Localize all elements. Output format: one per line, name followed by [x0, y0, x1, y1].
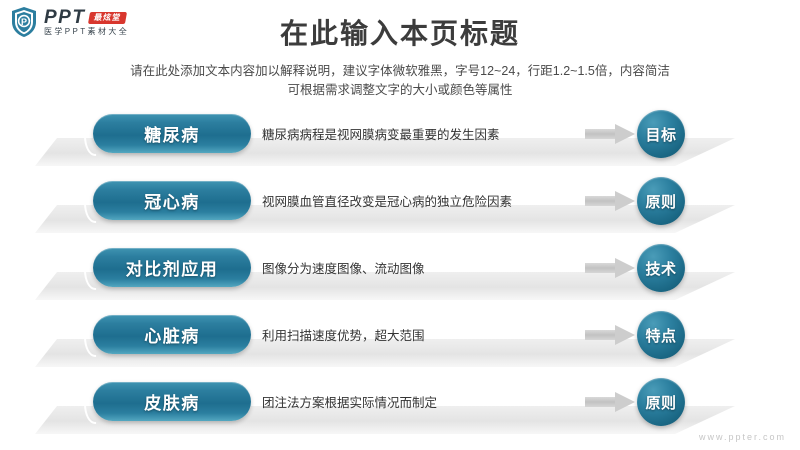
- process-list: 糖尿病 糖尿病病程是视网膜病变最重要的发生因素 目标 冠心病 视网膜血管直径改变…: [0, 108, 800, 443]
- subtitle-line-2: 可根据需求调整文字的大小或颜色等属性: [0, 81, 800, 100]
- list-item[interactable]: 冠心病 视网膜血管直径改变是冠心病的独立危险因素 原则: [0, 175, 800, 242]
- row-badge-label: 特点: [645, 325, 676, 346]
- row-pill-label: 心脏病: [144, 322, 200, 347]
- row-description: 糖尿病病程是视网膜病变最重要的发生因素: [262, 124, 500, 143]
- arrow-right-icon: [585, 392, 635, 412]
- row-pill[interactable]: 对比剂应用: [93, 248, 251, 287]
- list-item[interactable]: 心脏病 利用扫描速度优势，超大范围 特点: [0, 309, 800, 376]
- row-description: 图像分为速度图像、流动图像: [262, 258, 425, 277]
- footer-watermark: www.ppter.com: [699, 432, 786, 442]
- arrow-right-icon: [585, 124, 635, 144]
- subtitle-line-1: 请在此处添加文本内容加以解释说明，建议字体微软雅黑，字号12~24，行距1.2~…: [0, 62, 800, 81]
- row-badge-label: 目标: [645, 124, 676, 145]
- row-pill[interactable]: 心脏病: [93, 315, 251, 354]
- row-badge-label: 技术: [645, 258, 676, 279]
- row-description: 利用扫描速度优势，超大范围: [262, 325, 425, 344]
- arrow-right-icon: [585, 258, 635, 278]
- row-description: 团注法方案根据实际情况而制定: [262, 392, 437, 411]
- row-pill[interactable]: 皮肤病: [93, 382, 251, 421]
- row-badge-circle[interactable]: 目标: [637, 110, 685, 158]
- page-title: 在此输入本页标题: [0, 12, 800, 52]
- row-badge-label: 原则: [645, 191, 676, 212]
- row-pill[interactable]: 冠心病: [93, 181, 251, 220]
- page-subtitle: 请在此处添加文本内容加以解释说明，建议字体微软雅黑，字号12~24，行距1.2~…: [0, 62, 800, 101]
- row-pill-label: 冠心病: [144, 188, 200, 213]
- row-badge-circle[interactable]: 技术: [637, 244, 685, 292]
- row-pill-label: 对比剂应用: [126, 255, 219, 280]
- arrow-right-icon: [585, 325, 635, 345]
- row-pill[interactable]: 糖尿病: [93, 114, 251, 153]
- row-badge-label: 原则: [645, 392, 676, 413]
- list-item[interactable]: 皮肤病 团注法方案根据实际情况而制定 原则: [0, 376, 800, 443]
- row-pill-label: 糖尿病: [144, 121, 200, 146]
- row-description: 视网膜血管直径改变是冠心病的独立危险因素: [262, 191, 512, 210]
- arrow-right-icon: [585, 191, 635, 211]
- list-item[interactable]: 糖尿病 糖尿病病程是视网膜病变最重要的发生因素 目标: [0, 108, 800, 175]
- row-badge-circle[interactable]: 原则: [637, 378, 685, 426]
- row-badge-circle[interactable]: 原则: [637, 177, 685, 225]
- row-pill-label: 皮肤病: [144, 389, 200, 414]
- row-badge-circle[interactable]: 特点: [637, 311, 685, 359]
- list-item[interactable]: 对比剂应用 图像分为速度图像、流动图像 技术: [0, 242, 800, 309]
